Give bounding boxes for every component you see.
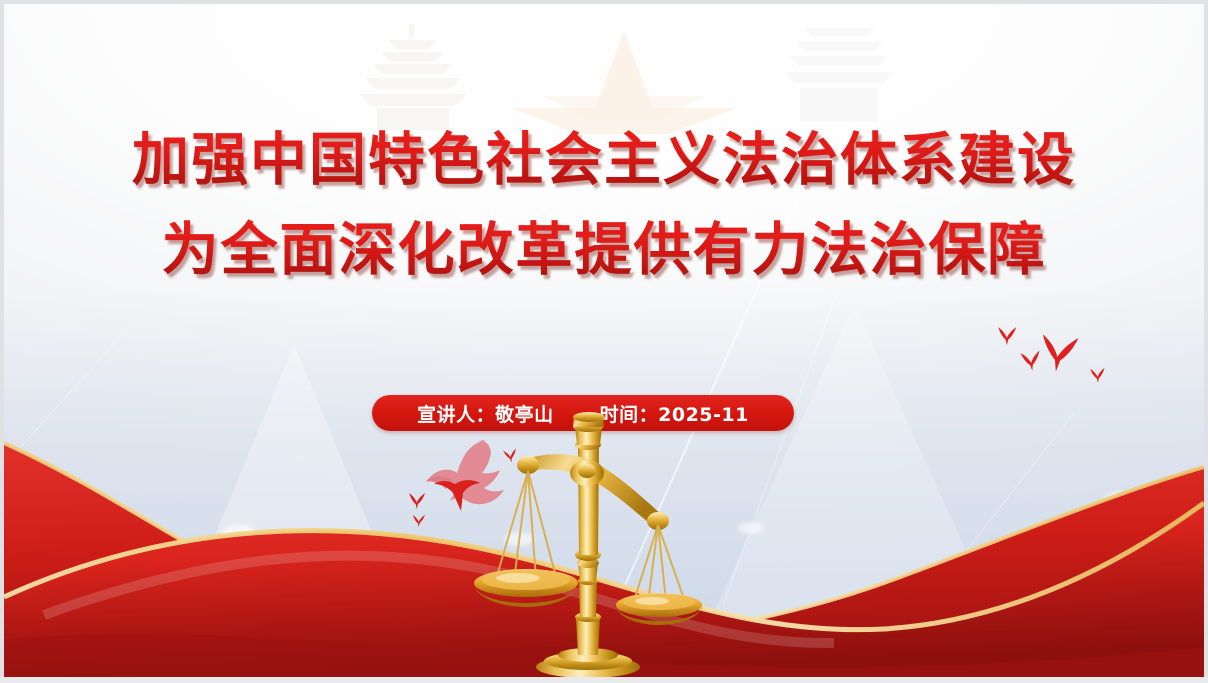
slide-frame: 加强中国特色社会主义法治体系建设 为全面深化改革提供有力法治保障 宣讲人：敬亭山… (0, 0, 1208, 683)
building-watermark-icon (774, 14, 904, 134)
presentation-slide: 加强中国特色社会主义法治体系建设 为全面深化改革提供有力法治保障 宣讲人：敬亭山… (4, 4, 1204, 677)
scales-of-justice-icon (456, 405, 726, 677)
scale-pan-right (616, 593, 702, 625)
frame-bottom-strip (0, 677, 1208, 683)
page-title-line-2: 为全面深化改革提供有力法治保障 (4, 212, 1204, 288)
scale-pan-left (474, 569, 578, 607)
page-title-line-1: 加强中国特色社会主义法治体系建设 (4, 122, 1204, 198)
building-watermark-icon (349, 20, 479, 136)
title-block: 加强中国特色社会主义法治体系建设 为全面深化改革提供有力法治保障 (4, 122, 1204, 288)
bird-icon (998, 327, 1016, 345)
